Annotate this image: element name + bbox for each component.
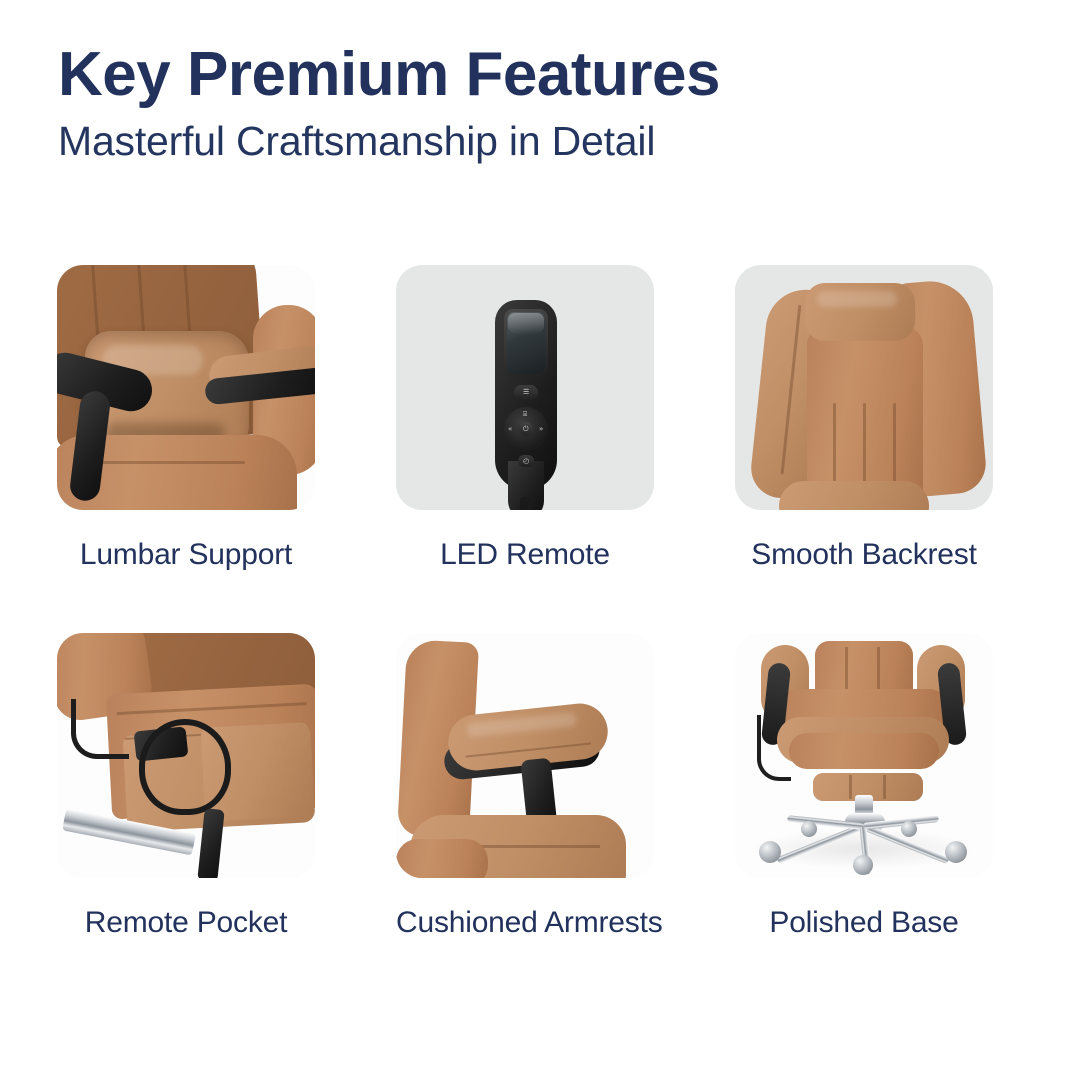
feature-card-smooth-backrest[interactable]: Smooth Backrest (735, 265, 993, 571)
feature-label-cushioned-armrests: Cushioned Armrests (396, 906, 654, 939)
feature-highlight-page: Key Premium Features Masterful Craftsman… (0, 0, 1080, 1080)
feature-card-lumbar-support[interactable]: Lumbar Support (57, 265, 315, 571)
caster-back-left (801, 821, 817, 837)
power-wire (71, 699, 129, 759)
seat-bolster (396, 839, 488, 878)
screen-glare (508, 313, 544, 335)
caster-front (853, 855, 873, 875)
program-icon: ⌸ (523, 411, 527, 418)
feature-label-smooth-backrest: Smooth Backrest (735, 538, 993, 571)
mode-button[interactable]: ☰ (514, 385, 538, 400)
feature-image-led-remote[interactable]: ☰ ⌸ « » ⏻ ◴ (396, 265, 654, 510)
feature-image-smooth-backrest[interactable] (735, 265, 993, 510)
feature-card-remote-pocket[interactable]: Remote Pocket (57, 633, 315, 939)
backrest-illustration (735, 265, 993, 510)
feature-grid: Lumbar Support ☰ ⌸ « » (57, 265, 1023, 939)
seat-front-cushion (789, 733, 939, 769)
remote-cable-loop (139, 719, 231, 815)
feature-card-cushioned-armrests[interactable]: Cushioned Armrests (396, 633, 654, 939)
left-node-icon: « (508, 426, 512, 433)
caster-right (945, 841, 967, 863)
feature-image-lumbar-support[interactable] (57, 265, 315, 510)
feature-card-polished-base[interactable]: Polished Base (735, 633, 993, 939)
chair-lumbar-illustration (57, 265, 315, 510)
feature-card-led-remote[interactable]: ☰ ⌸ « » ⏻ ◴ LED Remote (396, 265, 654, 571)
armrest-illustration (396, 633, 654, 878)
caster-left (759, 841, 781, 863)
feature-label-led-remote: LED Remote (396, 538, 654, 571)
feature-label-polished-base: Polished Base (735, 906, 993, 939)
power-icon: ⏻ (523, 426, 529, 433)
right-node-icon: » (539, 426, 543, 433)
page-subtitle: Masterful Craftsmanship in Detail (58, 119, 1018, 164)
feature-label-remote-pocket: Remote Pocket (57, 906, 315, 939)
seat-edge (779, 481, 929, 510)
feature-image-polished-base[interactable] (735, 633, 993, 878)
timer-icon: ◴ (523, 458, 529, 465)
power-button[interactable]: ⏻ (519, 422, 533, 436)
page-title: Key Premium Features (58, 42, 1018, 107)
timer-button[interactable]: ◴ (518, 455, 534, 467)
page-header: Key Premium Features Masterful Craftsman… (58, 42, 1018, 164)
remote-pocket-illustration (57, 633, 315, 878)
feature-image-remote-pocket[interactable] (57, 633, 315, 878)
feature-image-cushioned-armrests[interactable] (396, 633, 654, 878)
remote-illustration: ☰ ⌸ « » ⏻ ◴ (396, 265, 654, 510)
feature-label-lumbar-support: Lumbar Support (57, 538, 315, 571)
full-chair-illustration (735, 633, 993, 878)
mode-icon: ☰ (523, 389, 529, 396)
headrest-pad (805, 283, 915, 341)
remote-cord (520, 497, 531, 510)
caster-back-right (901, 821, 917, 837)
